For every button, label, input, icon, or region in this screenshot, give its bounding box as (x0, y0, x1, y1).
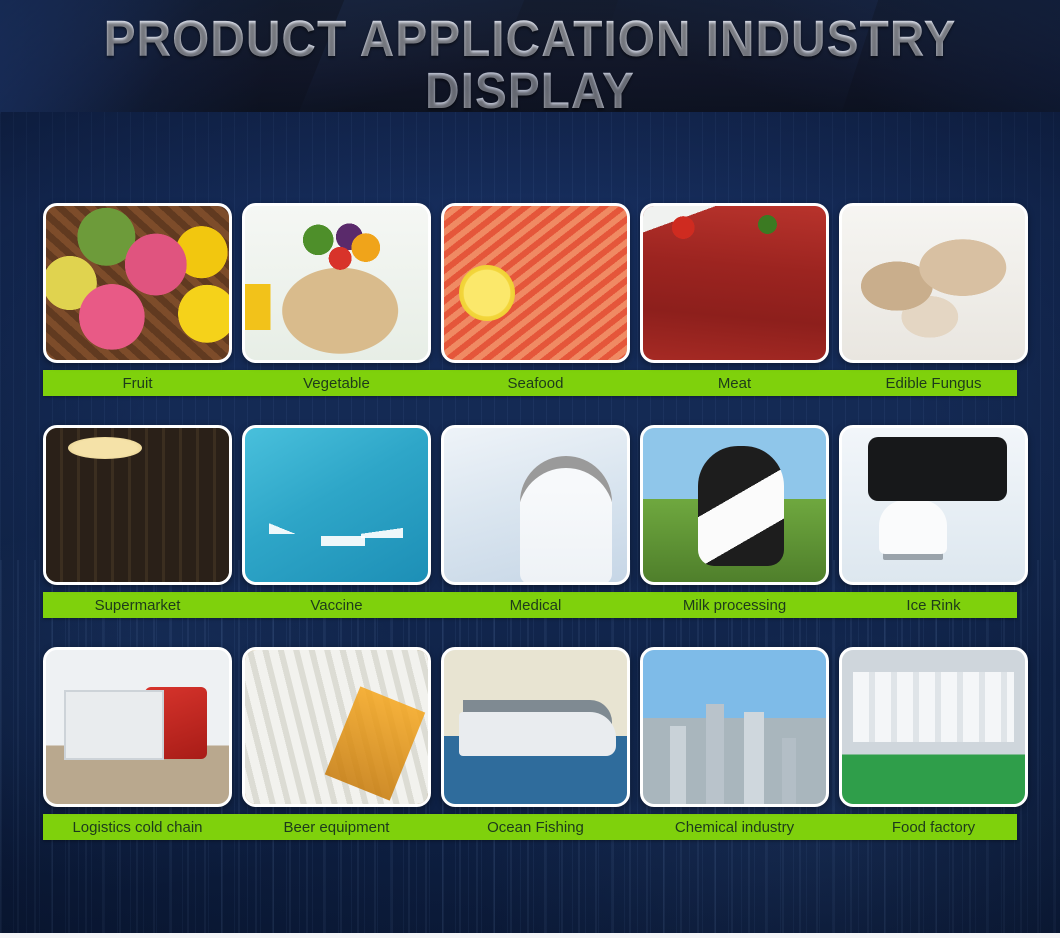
industry-row-2: Supermarket Vaccine Medical Milk process… (43, 425, 1017, 618)
industry-card-ice-rink[interactable] (839, 425, 1028, 585)
meat-photo (643, 206, 826, 360)
card-label-chemical-industry: Chemical industry (640, 819, 829, 836)
industry-card-logistics-cold-chain[interactable] (43, 647, 232, 807)
industry-card-supermarket[interactable] (43, 425, 232, 585)
bottom-edge-strip (0, 933, 1060, 938)
industry-card-beer-equipment[interactable] (242, 647, 431, 807)
ice-rink-photo (842, 428, 1025, 582)
card-label-fruit: Fruit (43, 375, 232, 392)
card-label-vaccine: Vaccine (242, 597, 431, 614)
industry-card-medical[interactable] (441, 425, 630, 585)
card-strip-row-2 (43, 425, 1017, 585)
card-label-ice-rink: Ice Rink (839, 597, 1028, 614)
fruit-photo (46, 206, 229, 360)
page-header: PRODUCT APPLICATION INDUSTRY DISPLAY FOS… (0, 0, 1060, 112)
industry-card-chemical-industry[interactable] (640, 647, 829, 807)
medical-photo (444, 428, 627, 582)
card-label-logistics-cold-chain: Logistics cold chain (43, 819, 232, 836)
industry-card-ocean-fishing[interactable] (441, 647, 630, 807)
card-label-ocean-fishing: Ocean Fishing (441, 819, 630, 836)
logistics-cold-chain-photo (46, 650, 229, 804)
milk-processing-photo (643, 428, 826, 582)
label-bar-row-2: Supermarket Vaccine Medical Milk process… (43, 592, 1017, 618)
seafood-photo (444, 206, 627, 360)
card-label-supermarket: Supermarket (43, 597, 232, 614)
industry-card-vaccine[interactable] (242, 425, 431, 585)
industry-card-milk-processing[interactable] (640, 425, 829, 585)
ice-skate-icon (879, 500, 947, 554)
card-label-edible-fungus: Edible Fungus (839, 375, 1028, 392)
label-bar-row-1: Fruit Vegetable Seafood Meat Edible Fung… (43, 370, 1017, 396)
card-label-beer-equipment: Beer equipment (242, 819, 431, 836)
industry-row-1: Fruit Vegetable Seafood Meat Edible Fung… (43, 203, 1017, 396)
card-label-medical: Medical (441, 597, 630, 614)
industry-grid: Fruit Vegetable Seafood Meat Edible Fung… (0, 203, 1060, 840)
chemical-industry-photo (643, 650, 826, 804)
beer-equipment-photo (245, 650, 428, 804)
vaccine-photo (245, 428, 428, 582)
industry-card-edible-fungus[interactable] (839, 203, 1028, 363)
card-label-milk-processing: Milk processing (640, 597, 829, 614)
industry-card-fruit[interactable] (43, 203, 232, 363)
card-label-vegetable: Vegetable (242, 375, 431, 392)
food-factory-photo (842, 650, 1025, 804)
truck-cab-icon (145, 687, 207, 759)
industry-card-food-factory[interactable] (839, 647, 1028, 807)
card-label-food-factory: Food factory (839, 819, 1028, 836)
card-strip-row-3 (43, 647, 1017, 807)
industry-card-seafood[interactable] (441, 203, 630, 363)
card-label-seafood: Seafood (441, 375, 630, 392)
supermarket-photo (46, 428, 229, 582)
page-title: PRODUCT APPLICATION INDUSTRY DISPLAY (32, 0, 1028, 112)
ocean-fishing-photo (444, 650, 627, 804)
label-bar-row-3: Logistics cold chain Beer equipment Ocea… (43, 814, 1017, 840)
industry-card-vegetable[interactable] (242, 203, 431, 363)
card-label-meat: Meat (640, 375, 829, 392)
industry-row-3: Logistics cold chain Beer equipment Ocea… (43, 647, 1017, 840)
vegetable-photo (245, 206, 428, 360)
edible-fungus-photo (842, 206, 1025, 360)
card-strip-row-1 (43, 203, 1017, 363)
product-application-page: PRODUCT APPLICATION INDUSTRY DISPLAY FOS… (0, 0, 1060, 938)
industry-card-meat[interactable] (640, 203, 829, 363)
